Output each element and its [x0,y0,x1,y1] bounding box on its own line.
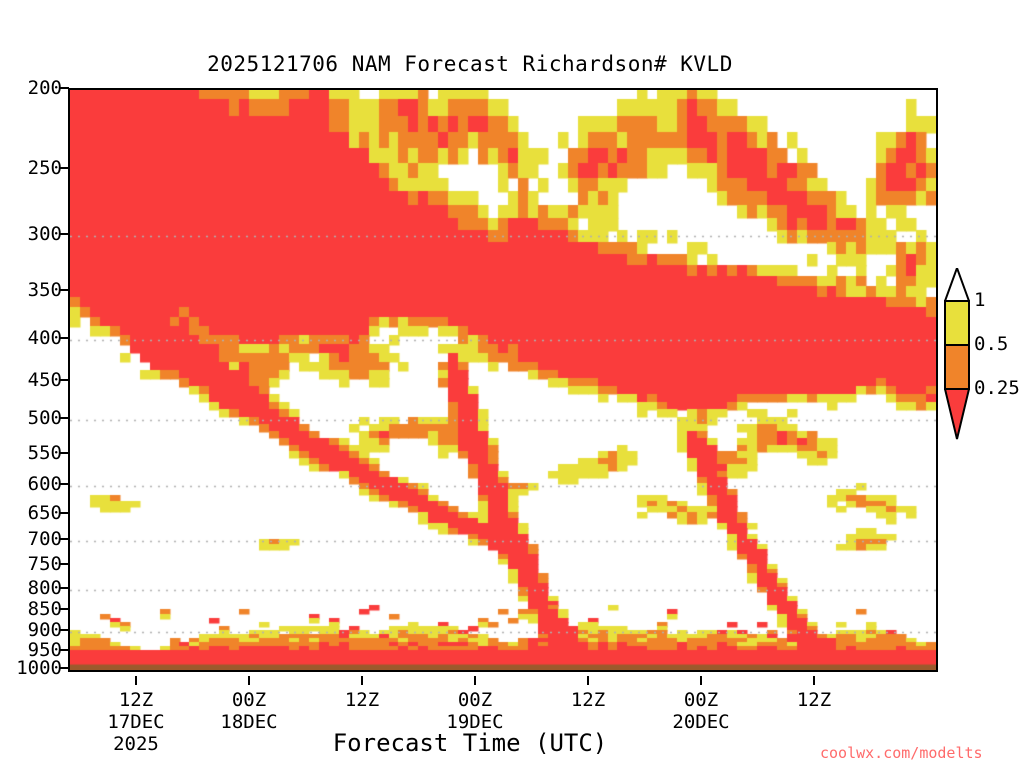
x-tick-time: 00Z [189,690,309,711]
watermark: coolwx.com/modelts [820,744,983,762]
x-tick-time: 12Z [76,690,196,711]
y-tick-label: 400 [6,329,62,348]
x-tick-mark [587,676,589,685]
x-tick-mark [248,676,250,685]
x-tick-time: 00Z [415,690,535,711]
y-tick-label: 500 [6,409,62,428]
y-tick-label: 700 [6,530,62,549]
colorbar-legend: 10.50.25 [944,300,970,468]
plot-area [68,88,938,672]
y-tick-label: 750 [6,555,62,574]
y-tick-label: 450 [6,371,62,390]
x-tick-time: 12Z [302,690,422,711]
y-tick-label: 650 [6,504,62,523]
y-tick-label: 250 [6,159,62,178]
y-axis: 2002503003504004505005506006507007508008… [0,0,62,700]
x-tick-time: 00Z [641,690,761,711]
x-axis-title: Forecast Time (UTC) [240,729,700,757]
y-tick-label: 550 [6,444,62,463]
x-tick-time: 12Z [754,690,874,711]
colorbar-tick-label: 0.25 [974,379,1020,398]
x-tick-mark [700,676,702,685]
gridlines [70,90,936,670]
y-tick-label: 850 [6,600,62,619]
x-tick-year: 2025 [76,734,196,755]
colorbar-tick-label: 1 [974,291,985,310]
colorbar-bottom-arrow [944,388,970,422]
x-tick-mark [813,676,815,685]
y-tick-label: 350 [6,281,62,300]
colorbar-separator [944,344,970,346]
colorbar-tick-label: 0.5 [974,335,1008,354]
y-tick-label: 200 [6,79,62,98]
y-tick-label: 900 [6,621,62,640]
colorbar-top-arrow [944,268,970,302]
x-tick-mark [361,676,363,685]
colorbar-band [944,300,970,344]
colorbar-band [944,344,970,388]
x-tick-mark [135,676,137,685]
y-tick-label: 600 [6,475,62,494]
x-tick-mark [474,676,476,685]
page-title: 2025121706 NAM Forecast Richardson# KVLD [0,52,940,76]
y-tick-label: 300 [6,225,62,244]
x-tick-time: 12Z [528,690,648,711]
y-tick-label: 800 [6,579,62,598]
x-tick-date: 17DEC [76,712,196,733]
colorbar-separator [944,300,970,302]
